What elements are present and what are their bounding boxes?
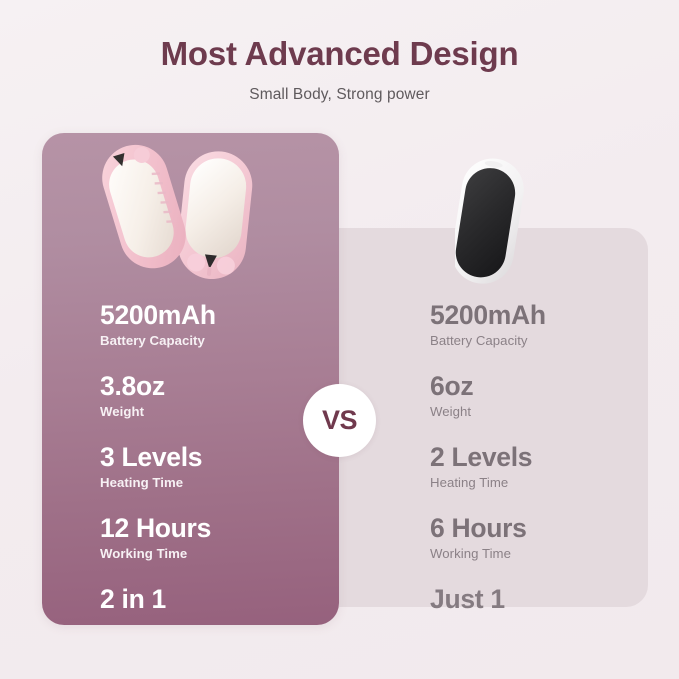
stat-value: 5200mAh — [100, 300, 330, 330]
stat-label: Working Time — [430, 545, 645, 563]
competitor-stats: 5200mAh Battery Capacity 6oz Weight 2 Le… — [430, 300, 645, 614]
stat-value: 3 Levels — [100, 442, 330, 472]
stat-label: Weight — [100, 403, 330, 421]
stat-row: 6 Hours Working Time — [430, 513, 645, 563]
stat-value: 3.8oz — [100, 371, 330, 401]
vs-badge: VS — [303, 384, 376, 457]
stat-value: 5200mAh — [430, 300, 645, 330]
stat-value: 2 Levels — [430, 442, 645, 472]
competitor-hand-warmer-image — [455, 150, 555, 290]
stat-value: 6oz — [430, 371, 645, 401]
stat-value: Just 1 — [430, 584, 645, 614]
stat-label: Heating Time — [100, 474, 330, 492]
stat-label: Battery Capacity — [430, 332, 645, 350]
header: Most Advanced Design Small Body, Strong … — [0, 36, 679, 104]
stat-row: 3 Levels Heating Time — [100, 442, 330, 492]
stat-row: 2 Levels Heating Time — [430, 442, 645, 492]
stat-value: 12 Hours — [100, 513, 330, 543]
stat-label: Heating Time — [430, 474, 645, 492]
stat-label: Weight — [430, 403, 645, 421]
stat-row: Just 1 — [430, 584, 645, 614]
page-subtitle: Small Body, Strong power — [0, 86, 679, 104]
vs-label: VS — [322, 405, 357, 436]
stat-value: 6 Hours — [430, 513, 645, 543]
stat-row: 5200mAh Battery Capacity — [100, 300, 330, 350]
pink-hand-warmer-image — [92, 140, 282, 290]
stat-row: 6oz Weight — [430, 371, 645, 421]
stat-value: 2 in 1 — [100, 584, 330, 614]
stat-row: 2 in 1 — [100, 584, 330, 614]
stat-row: 3.8oz Weight — [100, 371, 330, 421]
stat-label: Working Time — [100, 545, 330, 563]
stat-row: 12 Hours Working Time — [100, 513, 330, 563]
our-product-stats: 5200mAh Battery Capacity 3.8oz Weight 3 … — [100, 300, 330, 614]
stat-label: Battery Capacity — [100, 332, 330, 350]
stat-row: 5200mAh Battery Capacity — [430, 300, 645, 350]
page-title: Most Advanced Design — [0, 36, 679, 72]
